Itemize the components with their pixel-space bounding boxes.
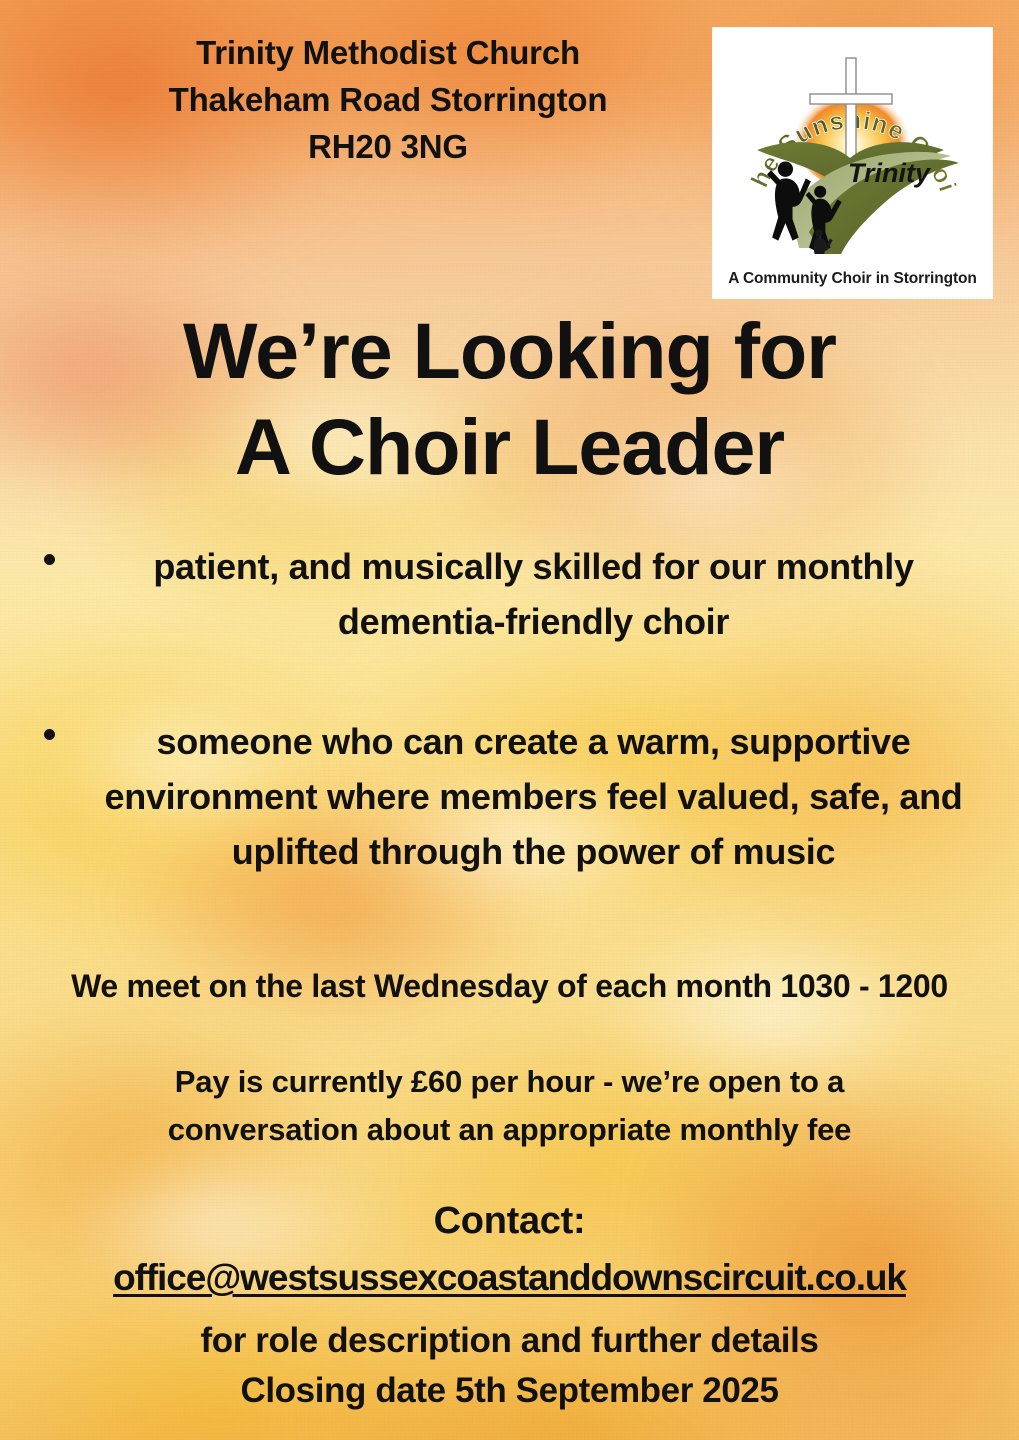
- bullet-text: patient, and musically skilled for our m…: [78, 540, 989, 649]
- address-line-street: Thakeham Road Storrington: [88, 77, 688, 124]
- pay-details: Pay is currently £60 per hour - we’re op…: [100, 1058, 919, 1155]
- venue-address: Trinity Methodist Church Thakeham Road S…: [88, 30, 688, 171]
- role-description-note: for role description and further details: [0, 1316, 1019, 1366]
- poster-canvas: Trinity Methodist Church Thakeham Road S…: [0, 0, 1019, 1440]
- closing-date: Closing date 5th September 2025: [0, 1366, 1019, 1416]
- logo-tagline: A Community Choir in Storrington: [713, 270, 992, 288]
- logo-artwork: The Sunshine Choir Trinity: [713, 32, 992, 254]
- contact-email-link[interactable]: office@westsussexcoastanddownscircuit.co…: [0, 1257, 1019, 1299]
- meeting-schedule: We meet on the last Wednesday of each mo…: [0, 968, 1019, 1005]
- list-item: patient, and musically skilled for our m…: [0, 540, 1019, 649]
- list-item: someone who can create a warm, supportiv…: [0, 715, 1019, 879]
- choir-logo: The Sunshine Choir Trinity: [713, 28, 992, 298]
- bullet-dot-icon: [44, 729, 55, 740]
- headline-line-1: We’re Looking for: [0, 303, 1019, 399]
- bullet-text: someone who can create a warm, supportiv…: [78, 715, 989, 879]
- bullet-dot-icon: [44, 554, 55, 565]
- address-line-church: Trinity Methodist Church: [88, 30, 688, 77]
- address-line-postcode: RH20 3NG: [88, 124, 688, 171]
- headline-line-2: A Choir Leader: [0, 399, 1019, 495]
- page-title: We’re Looking for A Choir Leader: [0, 303, 1019, 496]
- logo-script-text: Trinity: [848, 158, 932, 188]
- requirements-list: patient, and musically skilled for our m…: [0, 540, 1019, 932]
- contact-label: Contact:: [0, 1200, 1019, 1243]
- footer-details: for role description and further details…: [0, 1316, 1019, 1417]
